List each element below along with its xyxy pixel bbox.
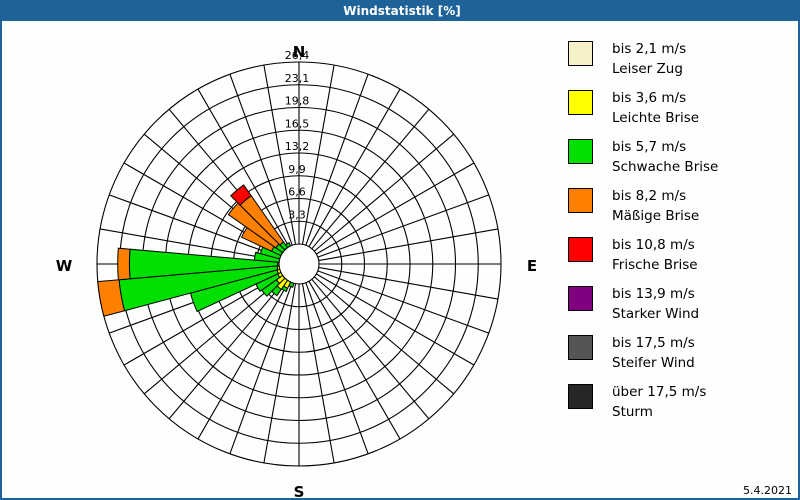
compass-label-north: N	[269, 43, 329, 61]
legend-item-name: Mäßige Brise	[612, 206, 699, 226]
wind-rose-chart: 3,36,69,913,216,519,823,126,4 N S W E	[2, 21, 562, 498]
legend-item-text: bis 13,9 m/sStarker Wind	[612, 284, 699, 324]
legend-item-speed: bis 13,9 m/s	[612, 284, 699, 304]
legend-item-name: Steifer Wind	[612, 353, 695, 373]
grid-spoke	[319, 229, 498, 261]
legend-item-speed: bis 8,2 m/s	[612, 186, 699, 206]
window-title: Windstatistik [%]	[343, 4, 460, 18]
wind-rose-petal-segment	[118, 248, 130, 280]
legend-item-text: bis 10,8 m/sFrische Brise	[612, 235, 698, 275]
legend-swatch-icon	[568, 384, 593, 409]
grid-spoke	[264, 284, 296, 463]
radial-tick-label: 19,8	[285, 95, 310, 108]
radial-tick-label: 16,5	[285, 117, 310, 130]
legend-item-speed: bis 10,8 m/s	[612, 235, 698, 255]
windstatistik-window: Windstatistik [%] 3,36,69,913,216,519,82…	[0, 0, 800, 500]
radial-tick-label: 6,6	[288, 186, 306, 199]
legend-swatch-icon	[568, 90, 593, 115]
compass-label-east: E	[502, 257, 562, 275]
legend: bis 2,1 m/sLeiser Zugbis 3,6 m/sLeichte …	[568, 39, 793, 431]
legend-item-text: über 17,5 m/sSturm	[612, 382, 706, 422]
compass-label-south: S	[269, 483, 329, 500]
legend-item: bis 3,6 m/sLeichte Brise	[568, 88, 793, 132]
legend-item: bis 2,1 m/sLeiser Zug	[568, 39, 793, 83]
legend-item-name: Frische Brise	[612, 255, 698, 275]
radial-tick-labels: 3,36,69,913,216,519,823,126,4	[285, 49, 310, 221]
legend-swatch-icon	[568, 286, 593, 311]
legend-item-text: bis 8,2 m/sMäßige Brise	[612, 186, 699, 226]
legend-item-text: bis 3,6 m/sLeichte Brise	[612, 88, 699, 128]
legend-item-name: Schwache Brise	[612, 157, 718, 177]
legend-item-speed: bis 3,6 m/s	[612, 88, 699, 108]
footer-date: 5.4.2021	[743, 484, 792, 497]
legend-item-speed: über 17,5 m/s	[612, 382, 706, 402]
grid-spoke	[319, 267, 498, 299]
legend-item: bis 10,8 m/sFrische Brise	[568, 235, 793, 279]
legend-swatch-icon	[568, 41, 593, 66]
legend-item-name: Starker Wind	[612, 304, 699, 324]
legend-item: bis 13,9 m/sStarker Wind	[568, 284, 793, 328]
legend-item-name: Sturm	[612, 402, 706, 422]
window-content: 3,36,69,913,216,519,823,126,4 N S W E bi…	[2, 21, 798, 498]
legend-item-text: bis 17,5 m/sSteifer Wind	[612, 333, 695, 373]
legend-item-speed: bis 5,7 m/s	[612, 137, 718, 157]
legend-item-name: Leiser Zug	[612, 59, 686, 79]
radial-tick-label: 3,3	[288, 208, 306, 221]
legend-item: bis 8,2 m/sMäßige Brise	[568, 186, 793, 230]
legend-swatch-icon	[568, 188, 593, 213]
grid-spoke	[302, 284, 334, 463]
compass-label-west: W	[34, 257, 94, 275]
legend-swatch-icon	[568, 237, 593, 262]
legend-item: bis 5,7 m/sSchwache Brise	[568, 137, 793, 181]
grid-spoke	[302, 65, 334, 244]
legend-item: bis 17,5 m/sSteifer Wind	[568, 333, 793, 377]
legend-swatch-icon	[568, 139, 593, 164]
radial-tick-label: 9,9	[288, 163, 306, 176]
radial-tick-label: 13,2	[285, 140, 310, 153]
legend-item-text: bis 2,1 m/sLeiser Zug	[612, 39, 686, 79]
legend-item-name: Leichte Brise	[612, 108, 699, 128]
legend-item-speed: bis 2,1 m/s	[612, 39, 686, 59]
legend-item-text: bis 5,7 m/sSchwache Brise	[612, 137, 718, 177]
window-title-bar: Windstatistik [%]	[2, 2, 800, 21]
legend-swatch-icon	[568, 335, 593, 360]
radial-tick-label: 23,1	[285, 72, 310, 85]
legend-item-speed: bis 17,5 m/s	[612, 333, 695, 353]
legend-item: über 17,5 m/sSturm	[568, 382, 793, 426]
